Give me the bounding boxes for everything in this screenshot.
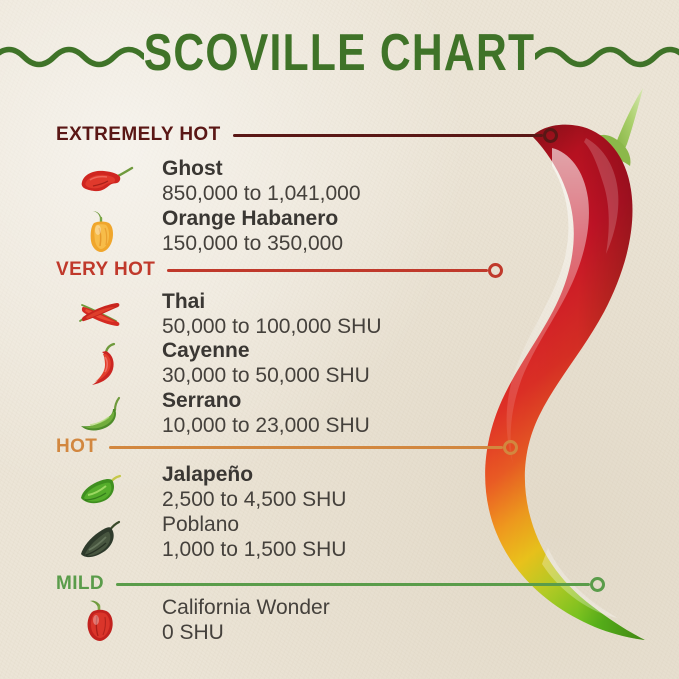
serrano-pepper-icon <box>70 390 150 438</box>
scoville-chart-infographic: SCOVILLE CHART <box>0 0 679 679</box>
pepper-range-california-wonder: 0 SHU <box>162 620 492 645</box>
poblano-pepper-icon <box>70 514 150 562</box>
entry-text-thai: Thai 50,000 to 100,000 SHU <box>162 289 492 339</box>
section-label-extremely-hot: EXTREMELY HOT <box>56 124 221 146</box>
section-header-extremely-hot: EXTREMELY HOT <box>56 124 679 146</box>
section-header-hot: HOT <box>56 436 679 458</box>
pepper-name-orange-habanero: Orange Habanero <box>162 206 492 231</box>
pepper-shading <box>485 125 645 640</box>
pepper-range-orange-habanero: 150,000 to 350,000 <box>162 231 492 256</box>
pepper-range-cayenne: 30,000 to 50,000 SHU <box>162 363 492 388</box>
section-connector-line-extremely-hot <box>233 134 543 137</box>
pepper-range-thai: 50,000 to 100,000 SHU <box>162 314 492 339</box>
pepper-name-cayenne: Cayenne <box>162 338 492 363</box>
section-connector-line-hot <box>109 446 503 449</box>
pepper-range-jalapeno: 2,500 to 4,500 SHU <box>162 487 492 512</box>
entry-text-orange-habanero: Orange Habanero 150,000 to 350,000 <box>162 206 492 256</box>
pepper-name-california-wonder: California Wonder <box>162 595 492 620</box>
section-label-hot: HOT <box>56 436 97 458</box>
entry-text-california-wonder: California Wonder 0 SHU <box>162 595 492 645</box>
pepper-range-serrano: 10,000 to 23,000 SHU <box>162 413 492 438</box>
pepper-range-ghost: 850,000 to 1,041,000 <box>162 181 492 206</box>
section-connector-dot-mild <box>590 577 605 592</box>
pepper-name-poblano: Poblano <box>162 512 492 537</box>
entry-text-ghost: Ghost 850,000 to 1,041,000 <box>162 156 492 206</box>
entry-text-poblano: Poblano 1,000 to 1,500 SHU <box>162 512 492 562</box>
section-connector-dot-extremely-hot <box>543 128 558 143</box>
section-label-mild: MILD <box>56 573 104 595</box>
entry-text-jalapeno: Jalapeño 2,500 to 4,500 SHU <box>162 462 492 512</box>
pepper-name-thai: Thai <box>162 289 492 314</box>
entry-text-cayenne: Cayenne 30,000 to 50,000 SHU <box>162 338 492 388</box>
pepper-name-ghost: Ghost <box>162 156 492 181</box>
bell-pepper-icon <box>70 597 150 645</box>
orange-habanero-icon <box>70 208 150 256</box>
thai-chili-icon <box>70 291 150 339</box>
pepper-name-jalapeno: Jalapeño <box>162 462 492 487</box>
ghost-pepper-icon <box>70 158 150 206</box>
section-connector-dot-very-hot <box>488 263 503 278</box>
section-label-very-hot: VERY HOT <box>56 259 155 281</box>
pepper-name-serrano: Serrano <box>162 388 492 413</box>
entry-text-serrano: Serrano 10,000 to 23,000 SHU <box>162 388 492 438</box>
section-connector-line-very-hot <box>167 269 488 272</box>
section-header-very-hot: VERY HOT <box>56 259 679 281</box>
cayenne-pepper-icon <box>70 340 150 388</box>
section-connector-line-mild <box>116 583 590 586</box>
wave-decoration-right <box>535 46 679 68</box>
section-connector-dot-hot <box>503 440 518 455</box>
section-header-mild: MILD <box>56 573 679 595</box>
pepper-range-poblano: 1,000 to 1,500 SHU <box>162 537 492 562</box>
jalapeno-pepper-icon <box>70 464 150 512</box>
